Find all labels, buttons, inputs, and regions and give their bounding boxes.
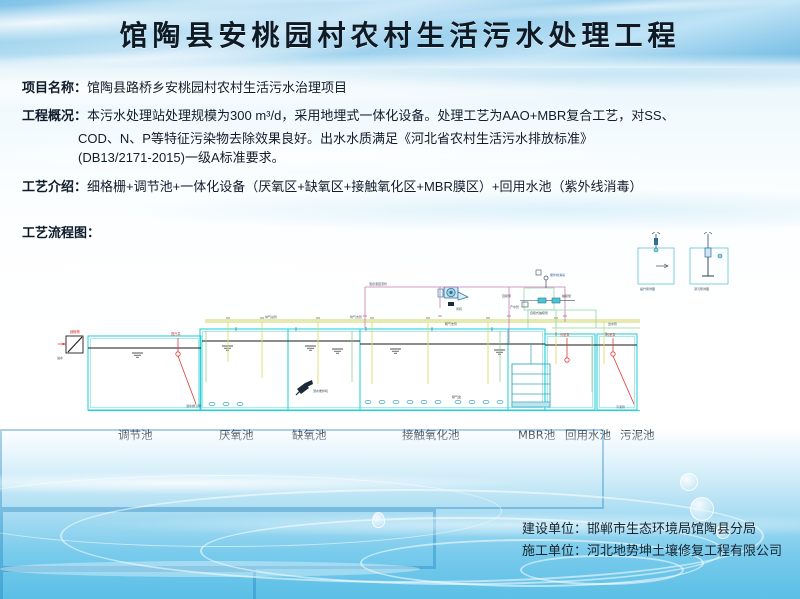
svg-text:潜水搅拌机: 潜水搅拌机	[313, 388, 328, 393]
overview-row: 工程概况： 本污水处理站处理规模为300 m³/d，采用地埋式一体化设备。处理工…	[0, 106, 800, 125]
water-ripple-graphic	[0, 429, 800, 599]
svg-text:曝气支管: 曝气支管	[445, 321, 457, 326]
water-levels	[88, 341, 637, 357]
mbr-membrane-module	[512, 344, 550, 407]
overview-line-2: COD、N、P等特征污染物去除效果良好。出水水质满足《河北省农村生活污水排放标准…	[0, 129, 800, 148]
svg-text:进水: 进水	[57, 355, 63, 360]
lift-pump: 提升泵 潜水排污泵	[171, 331, 201, 408]
project-name-value: 馆陶县路桥乡安桃园村农村生活污水治理项目	[87, 78, 347, 97]
process-row: 工艺介绍： 细格栅+调节池+一体化设备（厌氧区+缺氧区+接触氧化区+MBR膜区）…	[0, 177, 800, 196]
svg-text:细格栅: 细格栅	[70, 329, 80, 334]
svg-text:自吸式抽吸泵: 自吸式抽吸泵	[530, 310, 548, 315]
detail-diagram-submersible-pump: 潜污泵详图	[690, 232, 728, 291]
svg-text:混合液回流管: 混合液回流管	[369, 281, 387, 286]
water-drop-icon	[372, 512, 385, 528]
footer-contractor: 施工单位：河北地势坤土壤修复工程有限公司	[522, 541, 782, 563]
svg-text:污泥泵: 污泥泵	[606, 332, 616, 337]
svg-text:风机: 风机	[456, 306, 462, 311]
svg-text:潜水排污泵: 潜水排污泵	[186, 403, 201, 408]
sludge-pump-sludge-tank: 污泥泵 污泥管	[606, 332, 634, 409]
svg-text:供气总管: 供气总管	[265, 314, 277, 319]
svg-text:提升泵: 提升泵	[171, 331, 181, 336]
process-value: 细格栅+调节池+一体化设备（厌氧区+缺氧区+接触氧化区+MBR膜区）+回用水池（…	[87, 177, 642, 196]
overview-line-3: (DB13/2171-2015)一级A标准要求。	[0, 148, 800, 167]
svg-text:产水管: 产水管	[510, 304, 519, 309]
inlet-grate: 细格栅 进水	[57, 329, 83, 360]
svg-text:提升泵详图: 提升泵详图	[640, 286, 655, 291]
svg-text:自吸泵: 自吸泵	[502, 293, 511, 298]
process-flow-diagram: .tk{fill:none;stroke:#2fd0d8;stroke-widt…	[0, 232, 800, 432]
page-title: 馆陶县安桃园村农村生活污水处理工程	[0, 14, 800, 54]
overview-label: 工程概况：	[22, 106, 87, 125]
detail-diagram-lift-pump: 提升泵详图	[638, 232, 674, 291]
svg-text:抽吸泵: 抽吸泵	[562, 293, 571, 298]
svg-text:污泥管: 污泥管	[616, 404, 625, 409]
submersible-mixer: 潜水搅拌机	[296, 380, 328, 395]
svg-text:潜污泵详图: 潜污泵详图	[694, 286, 709, 291]
svg-text:曝气盘: 曝气盘	[452, 394, 461, 399]
process-label: 工艺介绍：	[22, 177, 87, 196]
svg-text:供气支管: 供气支管	[350, 314, 362, 319]
sludge-pump-right: 污泥泵	[560, 332, 570, 362]
aeration-diffusers: 曝气盘	[209, 394, 503, 406]
uv-disinfection-cluster: 紫外线消毒 自吸泵 抽吸泵 产水管 自吸式抽吸泵	[502, 270, 575, 315]
info-block: 项目名称： 馆陶县路桥乡安桃园村农村生活污水治理项目 工程概况： 本污水处理站处…	[0, 78, 800, 205]
svg-text:污泥泵: 污泥泵	[560, 332, 570, 337]
overview-line-1: 本污水处理站处理规模为300 m³/d，采用地埋式一体化设备。处理工艺为AAO+…	[87, 106, 675, 125]
air-piping: 供气总管 供气支管 曝气支管	[205, 314, 640, 384]
blower-unit: 风机	[438, 287, 468, 311]
project-name-row: 项目名称： 馆陶县路桥乡安桃园村农村生活污水治理项目	[0, 78, 800, 97]
poster-page: 馆陶县安桃园村农村生活污水处理工程 项目名称： 馆陶县路桥乡安桃园村农村生活污水…	[0, 0, 800, 599]
footer-block: 建设单位：邯郸市生态环境局馆陶县分局 施工单位：河北地势坤土壤修复工程有限公司	[522, 519, 782, 563]
project-name-label: 项目名称：	[22, 78, 87, 97]
svg-text:紫外线消毒: 紫外线消毒	[550, 272, 565, 277]
footer-owner: 建设单位：邯郸市生态环境局馆陶县分局	[522, 519, 782, 541]
svg-text:出水管: 出水管	[608, 321, 617, 326]
